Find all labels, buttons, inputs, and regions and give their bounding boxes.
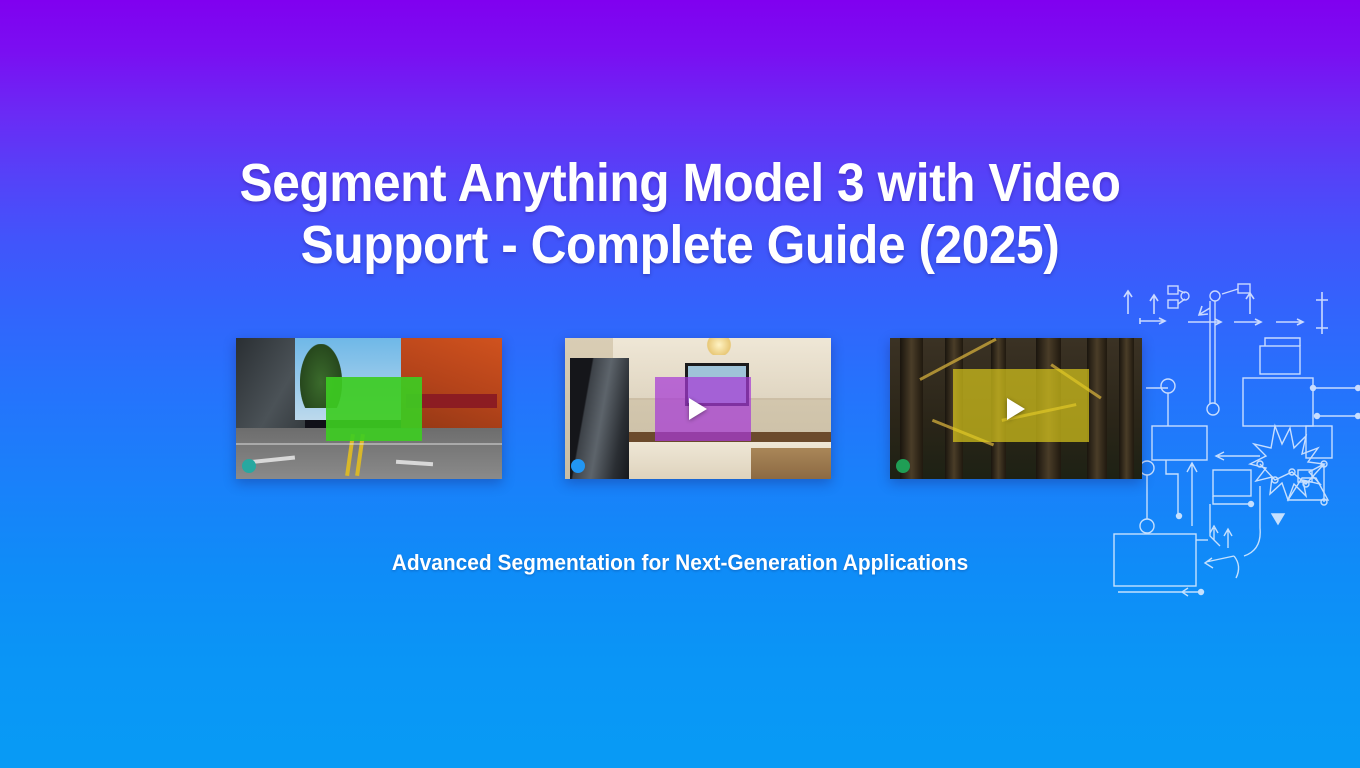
thumbnail-kitchen-scene[interactable] (565, 338, 831, 479)
thumbnail-badge-icon (571, 459, 585, 473)
street-rail-line (236, 443, 502, 445)
segmentation-overlay-green (326, 377, 422, 440)
thumbnail-street-scene[interactable] (236, 338, 502, 479)
title-block: Segment Anything Model 3 with Video Supp… (0, 152, 1360, 276)
thumbnail-badge-icon (896, 459, 910, 473)
kitchen-island (751, 448, 831, 479)
page-title: Segment Anything Model 3 with Video Supp… (238, 152, 1121, 276)
thumbnail-forest-scene[interactable] (890, 338, 1142, 479)
thumbnail-badge-icon (242, 459, 256, 473)
page-subtitle: Advanced Segmentation for Next-Generatio… (34, 550, 1326, 576)
kitchen-ceiling-light (703, 338, 735, 355)
forest-tree-trunk (1087, 338, 1107, 479)
play-icon[interactable] (689, 398, 707, 420)
forest-tree-trunk (900, 338, 923, 479)
subtitle-block: Advanced Segmentation for Next-Generatio… (0, 550, 1360, 576)
play-icon[interactable] (1007, 398, 1025, 420)
thumbnail-row (0, 338, 1360, 480)
forest-tree-trunk (1119, 338, 1134, 479)
